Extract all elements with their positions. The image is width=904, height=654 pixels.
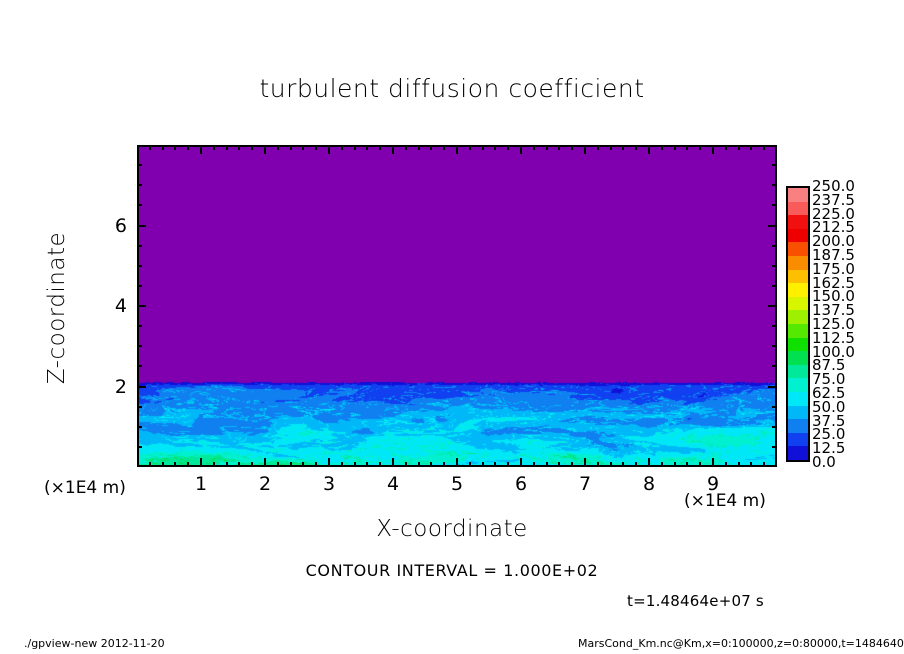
y-tick-left (137, 164, 142, 166)
y-tick-left (137, 245, 142, 247)
y-tick-left (137, 386, 146, 388)
y-tick-right (772, 426, 777, 428)
x-tick-bottom (520, 458, 522, 467)
x-tick-bottom (200, 458, 202, 467)
footer-dataset-label: MarsCond_Km.nc@Km,x=0:100000,z=0:80000,t… (578, 637, 904, 650)
x-tick-top (494, 145, 496, 150)
y-tick-left (137, 204, 142, 206)
colorbar-band (788, 351, 808, 365)
x-tick-bottom (725, 462, 727, 467)
y-tick-left (137, 305, 146, 307)
y-tick-left (137, 365, 142, 367)
y-tick-right (772, 365, 777, 367)
x-tick-label: 2 (245, 473, 285, 495)
x-tick-top (277, 145, 279, 150)
colorbar-band (788, 242, 808, 256)
x-tick-bottom (187, 462, 189, 467)
y-tick-right (772, 345, 777, 347)
x-tick-top (187, 145, 189, 150)
x-tick-label: 8 (629, 473, 669, 495)
x-tick-top (584, 145, 586, 154)
y-tick-right (772, 446, 777, 448)
x-tick-bottom (238, 462, 240, 467)
x-tick-label: 1 (181, 473, 221, 495)
x-tick-top (162, 145, 164, 150)
colorbar-band (788, 338, 808, 352)
y-axis-unit-label: (×1E4 m) (44, 478, 126, 498)
x-tick-bottom (213, 462, 215, 467)
colorbar-band (788, 270, 808, 284)
y-tick-right (772, 265, 777, 267)
y-tick-left (137, 406, 142, 408)
x-tick-top (597, 145, 599, 150)
x-tick-bottom (341, 462, 343, 467)
y-axis-title: Z-coordinate (44, 208, 70, 408)
x-tick-top (648, 145, 650, 154)
x-tick-top (520, 145, 522, 154)
x-tick-bottom (482, 462, 484, 467)
x-tick-bottom (277, 462, 279, 467)
x-tick-top (302, 145, 304, 150)
x-tick-bottom (354, 462, 356, 467)
x-tick-top (200, 145, 202, 154)
x-tick-top (443, 145, 445, 150)
x-tick-bottom (738, 462, 740, 467)
x-tick-top (661, 145, 663, 150)
x-tick-top (763, 145, 765, 150)
x-tick-top (546, 145, 548, 150)
colorbar (786, 186, 810, 462)
x-tick-bottom (302, 462, 304, 467)
x-tick-bottom (661, 462, 663, 467)
x-tick-top (341, 145, 343, 150)
x-tick-top (392, 145, 394, 154)
x-tick-bottom (507, 462, 509, 467)
x-tick-label: 6 (501, 473, 541, 495)
colorbar-tick-labels: 250.0237.5225.0212.5200.0187.5175.0162.5… (812, 180, 892, 472)
x-tick-top (366, 145, 368, 150)
x-tick-bottom (392, 458, 394, 467)
colorbar-band (788, 378, 808, 392)
contour-field (139, 147, 775, 465)
colorbar-band (788, 188, 808, 202)
x-tick-top (507, 145, 509, 150)
x-tick-top (725, 145, 727, 150)
x-tick-top (610, 145, 612, 150)
x-tick-bottom (328, 458, 330, 467)
x-tick-bottom (149, 462, 151, 467)
x-tick-bottom (494, 462, 496, 467)
colorbar-band (788, 419, 808, 433)
colorbar-band (788, 446, 808, 460)
footer-command-label: ./gpview-new 2012-11-20 (24, 637, 165, 650)
x-tick-top (699, 145, 701, 150)
x-tick-bottom (469, 462, 471, 467)
x-tick-top (674, 145, 676, 150)
x-tick-bottom (251, 462, 253, 467)
x-tick-bottom (174, 462, 176, 467)
x-tick-bottom (546, 462, 548, 467)
colorbar-band (788, 202, 808, 216)
colorbar-band (788, 215, 808, 229)
x-tick-top (712, 145, 714, 154)
x-tick-label: 5 (437, 473, 477, 495)
x-tick-bottom (635, 462, 637, 467)
colorbar-band (788, 297, 808, 311)
x-tick-top (418, 145, 420, 150)
x-tick-top (328, 145, 330, 154)
x-tick-top (213, 145, 215, 150)
x-tick-bottom (648, 458, 650, 467)
time-stamp-caption: t=1.48464e+07 s (627, 592, 764, 610)
x-tick-top (558, 145, 560, 150)
x-tick-bottom (443, 462, 445, 467)
x-tick-top (315, 145, 317, 150)
y-tick-left (137, 265, 142, 267)
x-tick-bottom (699, 462, 701, 467)
x-tick-bottom (674, 462, 676, 467)
x-tick-top (482, 145, 484, 150)
colorbar-band (788, 283, 808, 297)
x-tick-label: 7 (565, 473, 605, 495)
y-tick-label: 4 (97, 295, 127, 317)
x-tick-bottom (622, 462, 624, 467)
x-tick-top (686, 145, 688, 150)
plot-area (137, 145, 777, 467)
x-tick-bottom (610, 462, 612, 467)
x-axis-title: X-coordinate (0, 516, 904, 542)
x-tick-bottom (558, 462, 560, 467)
page-title: turbulent diffusion coefficient (0, 74, 904, 103)
x-tick-top (571, 145, 573, 150)
x-tick-top (379, 145, 381, 150)
colorbar-band (788, 229, 808, 243)
x-tick-top (469, 145, 471, 150)
x-tick-top (622, 145, 624, 150)
x-tick-bottom (264, 458, 266, 467)
y-tick-left (137, 285, 142, 287)
y-tick-right (772, 406, 777, 408)
x-tick-top (290, 145, 292, 150)
x-tick-bottom (405, 462, 407, 467)
x-tick-top (456, 145, 458, 154)
y-tick-right (772, 184, 777, 186)
colorbar-band (788, 406, 808, 420)
y-tick-right (772, 245, 777, 247)
x-tick-bottom (686, 462, 688, 467)
y-tick-left (137, 184, 142, 186)
y-tick-left (137, 446, 142, 448)
colorbar-label: 0.0 (812, 455, 836, 470)
y-tick-left (137, 426, 142, 428)
colorbar-band (788, 324, 808, 338)
x-tick-bottom (315, 462, 317, 467)
y-tick-right (772, 285, 777, 287)
x-tick-top (405, 145, 407, 150)
x-tick-bottom (533, 462, 535, 467)
x-tick-top (251, 145, 253, 150)
x-tick-top (738, 145, 740, 150)
x-tick-bottom (763, 462, 765, 467)
y-tick-right (768, 225, 777, 227)
x-tick-bottom (418, 462, 420, 467)
y-tick-left (137, 345, 142, 347)
x-tick-bottom (430, 462, 432, 467)
x-tick-top (264, 145, 266, 154)
x-tick-top (533, 145, 535, 150)
colorbar-band (788, 365, 808, 379)
x-tick-bottom (597, 462, 599, 467)
x-tick-top (750, 145, 752, 150)
x-tick-top (430, 145, 432, 150)
x-tick-top (635, 145, 637, 150)
x-tick-bottom (290, 462, 292, 467)
x-tick-label: 4 (373, 473, 413, 495)
x-tick-top (354, 145, 356, 150)
x-tick-top (226, 145, 228, 150)
y-tick-left (137, 325, 142, 327)
y-tick-label: 6 (97, 215, 127, 237)
y-tick-right (772, 164, 777, 166)
y-tick-right (772, 204, 777, 206)
x-tick-top (238, 145, 240, 150)
x-tick-bottom (366, 462, 368, 467)
x-tick-bottom (226, 462, 228, 467)
x-tick-bottom (750, 462, 752, 467)
x-tick-bottom (379, 462, 381, 467)
y-tick-right (768, 305, 777, 307)
colorbar-band (788, 256, 808, 270)
x-axis-unit-label: (×1E4 m) (684, 491, 766, 511)
contour-interval-caption: CONTOUR INTERVAL = 1.000E+02 (0, 561, 904, 580)
y-tick-label: 2 (97, 376, 127, 398)
x-tick-label: 3 (309, 473, 349, 495)
x-tick-bottom (162, 462, 164, 467)
y-tick-right (772, 325, 777, 327)
y-tick-left (137, 225, 146, 227)
x-tick-bottom (712, 458, 714, 467)
y-tick-right (768, 386, 777, 388)
x-tick-top (149, 145, 151, 150)
x-tick-bottom (584, 458, 586, 467)
x-tick-top (174, 145, 176, 150)
colorbar-band (788, 433, 808, 447)
colorbar-band (788, 392, 808, 406)
x-tick-bottom (571, 462, 573, 467)
colorbar-band (788, 310, 808, 324)
x-tick-bottom (456, 458, 458, 467)
